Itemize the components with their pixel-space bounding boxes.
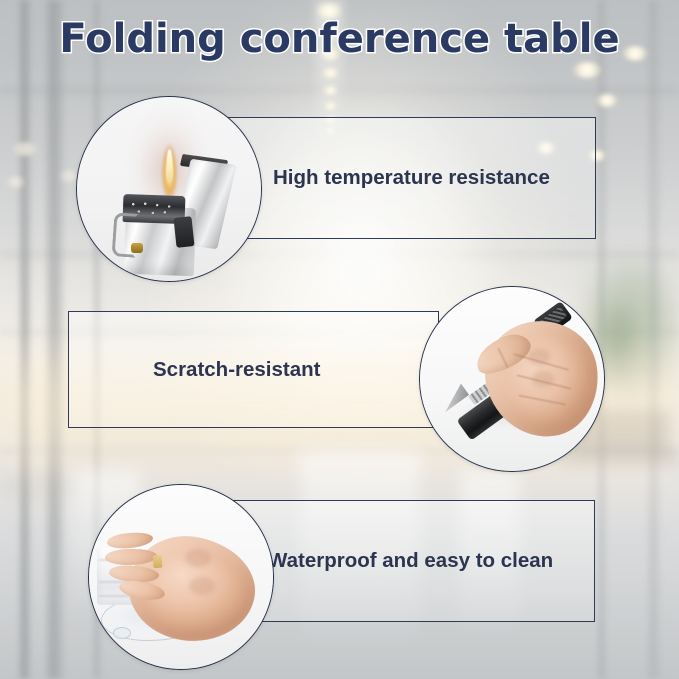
feature-image-hand-wiping-cloth — [88, 484, 274, 670]
knuckle-shading — [528, 349, 550, 365]
finger-ring — [153, 555, 163, 569]
feature-label: Scratch-resistant — [153, 358, 320, 382]
product-feature-poster: Folding conference table High temperatur… — [0, 0, 679, 679]
feature-image-hand-holding-utility-knife — [419, 286, 605, 472]
knuckle-shading — [532, 371, 554, 387]
feature-box-scratch-resistant: Scratch-resistant — [68, 311, 439, 428]
water-droplet — [113, 627, 131, 639]
knuckle-shading — [189, 577, 215, 595]
feature-label: High temperature resistance — [273, 166, 550, 190]
lighter-wick — [131, 243, 143, 253]
feature-box-waterproof-and-easy-to-clean: Waterproof and easy to clean — [232, 500, 595, 622]
page-title: Folding conference table — [0, 16, 679, 62]
feature-box-high-temperature-resistance: High temperature resistance — [225, 117, 596, 239]
feature-label: Waterproof and easy to clean — [268, 549, 553, 573]
flame-core — [166, 149, 173, 183]
feature-image-lighter-with-flame — [76, 96, 262, 282]
lighter-flint-wheel — [173, 216, 194, 248]
knuckle-shading — [185, 549, 211, 567]
